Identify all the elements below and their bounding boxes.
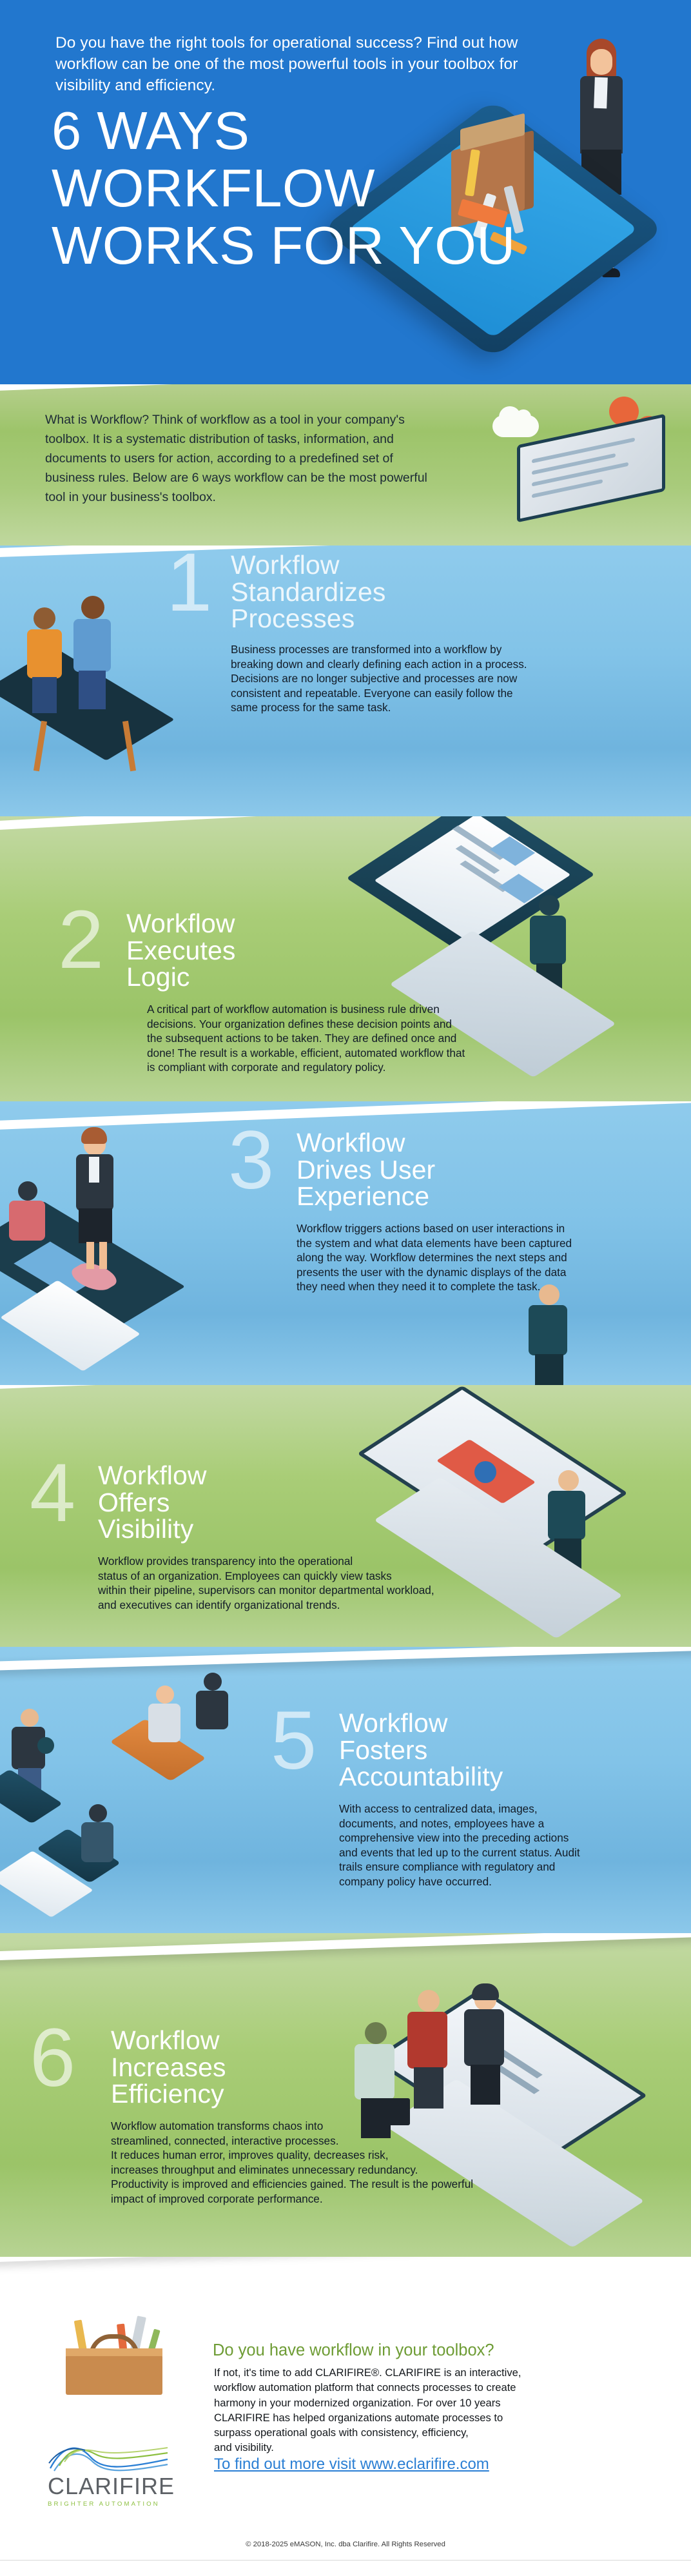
section-1-body-line-5: same process for the same task. — [231, 700, 527, 715]
section-4-body: Workflow provides transparency into the … — [98, 1554, 434, 1612]
section-1-heading-line-2: Standardizes — [231, 579, 386, 606]
section-4-heading-line-1: Workflow — [98, 1462, 207, 1490]
section-2-body-line-5: is compliant with corporate and regulato… — [147, 1060, 465, 1075]
clarifire-logo-mark — [48, 2440, 170, 2473]
cta-body-line-2: workflow automation platform that connec… — [214, 2380, 614, 2395]
section-3-heading-line-1: Workflow — [297, 1130, 435, 1157]
section-5-body-line-4: and events that led up to the current st… — [339, 1845, 580, 1860]
section-2-body-line-2: decisions. Your organization defines the… — [147, 1017, 465, 1032]
section-6-body-line-3: It reduces human error, improves quality… — [111, 2148, 473, 2163]
section-1-person-right — [70, 596, 119, 705]
section-3-heading: Workflow Drives User Experience — [297, 1130, 435, 1210]
cloud-icon — [492, 415, 539, 437]
section-2-body-line-1: A critical part of workflow automation i… — [147, 1002, 465, 1017]
section-3-businesswoman — [71, 1128, 122, 1257]
divider-section1-section2 — [0, 816, 691, 832]
copyright-notice: © 2018-2025 eMASON, Inc. dba Clarifire. … — [0, 2541, 691, 2548]
section-6-body: Workflow automation transforms chaos int… — [111, 2119, 473, 2207]
section-3-seated-person — [8, 1181, 53, 1272]
section-5-body-line-2: documents, and notes, employees have a — [339, 1816, 580, 1831]
cta-body-line-6: and visibility. — [214, 2440, 614, 2455]
section-5-body-line-6: company policy have occurred. — [339, 1874, 580, 1889]
section-6-band: 6 Workflow Increases Efficiency Workflow… — [0, 1933, 691, 2263]
section-1-body-line-3: Decisions are no longer subjective and p… — [231, 671, 527, 686]
section-6-body-line-1: Workflow automation transforms chaos int… — [111, 2119, 473, 2134]
page-title-line-3: WORKS FOR YOU — [52, 217, 683, 274]
page-title: 6 WAYS WORKFLOW WORKS FOR YOU — [52, 102, 683, 274]
footer-divider — [0, 2560, 691, 2561]
intro-band: What is Workflow? Think of workflow as a… — [0, 384, 691, 552]
section-5-body: With access to centralized data, images,… — [339, 1802, 580, 1889]
clarifire-logo-wordmark: CLARIFIRE — [48, 2473, 177, 2499]
section-1-body-line-4: consistent and repeatable. Everyone can … — [231, 686, 527, 701]
section-3-body-line-2: the system and what data elements have b… — [297, 1236, 572, 1251]
gear-icon — [614, 401, 634, 422]
infographic-page: Do you have the right tools for operatio… — [0, 0, 691, 2576]
section-3-number: 3 — [228, 1126, 274, 1195]
section-3-body-line-1: Workflow triggers actions based on user … — [297, 1221, 572, 1236]
cta-toolbox-illustration — [52, 2315, 180, 2399]
header-subheading: Do you have the right tools for operatio… — [55, 32, 532, 96]
section-5-heading-line-2: Fosters — [339, 1737, 503, 1764]
cta-body-line-3: harmony in your modernized organization.… — [214, 2395, 614, 2410]
section-5-body-line-5: trails ensure compliance with regulatory… — [339, 1860, 580, 1874]
section-6-body-line-4: increases throughput and eliminates unne… — [111, 2163, 473, 2178]
section-1-number: 1 — [166, 548, 212, 618]
section-6-body-line-6: impact of improved corporate performance… — [111, 2192, 473, 2207]
section-4-heading-line-3: Visibility — [98, 1516, 207, 1543]
section-4-gauge-icon — [474, 1461, 496, 1483]
section-2-heading-line-3: Logic — [126, 964, 235, 991]
section-6-body-line-2: streamlined, connected, interactive proc… — [111, 2134, 473, 2148]
cta-heading: Do you have workflow in your toolbox? — [213, 2341, 494, 2360]
section-6-heading: Workflow Increases Efficiency — [111, 2027, 226, 2108]
section-3-body-line-3: along the way. Workflow determines the n… — [297, 1250, 572, 1265]
section-2-body-line-4: done! The result is a workable, efficien… — [147, 1046, 465, 1061]
section-4-body-line-2: status of an organization. Employees can… — [98, 1569, 434, 1584]
section-5-band: 5 Workflow Fosters Accountability With a… — [0, 1647, 691, 1933]
divider-section4-section5 — [0, 1647, 691, 1671]
divider-section5-section6 — [0, 1933, 691, 1961]
section-3-body-line-5: they need when they need it to complete … — [297, 1279, 572, 1294]
page-title-line-2: WORKFLOW — [52, 159, 683, 217]
divider-section6-cta — [0, 2257, 691, 2263]
section-1-heading: Workflow Standardizes Processes — [231, 552, 386, 633]
section-4-band: 4 Workflow Offers Visibility Workflow pr… — [0, 1385, 691, 1647]
section-2-body-line-3: the subsequent actions to be taken. They… — [147, 1031, 465, 1046]
section-1-body: Business processes are transformed into … — [231, 642, 527, 715]
section-4-body-line-1: Workflow provides transparency into the … — [98, 1554, 434, 1569]
section-1-person-left — [23, 607, 68, 704]
section-3-body-line-4: presents the user with the dynamic displ… — [297, 1265, 572, 1280]
section-6-heading-line-3: Efficiency — [111, 2081, 226, 2108]
header-subheading-line-1: Do you have the right tools for operatio… — [55, 34, 422, 52]
cta-body-line-5: surpass operational goals with consisten… — [214, 2425, 614, 2440]
section-3-body: Workflow triggers actions based on user … — [297, 1221, 572, 1294]
section-5-person-right — [193, 1673, 235, 1750]
cta-body-line-4: CLARIFIRE has helped organizations autom… — [214, 2410, 614, 2425]
divider-section3-section4 — [0, 1385, 691, 1390]
page-title-line-1: 6 WAYS — [52, 102, 683, 159]
section-2-body: A critical part of workflow automation i… — [147, 1002, 465, 1075]
section-4-number: 4 — [30, 1459, 75, 1528]
cta-body-line-1: If not, it's time to add CLARIFIRE®. CLA… — [214, 2365, 614, 2380]
section-1-heading-line-1: Workflow — [231, 552, 386, 579]
section-4-heading: Workflow Offers Visibility — [98, 1462, 207, 1543]
section-6-heading-line-1: Workflow — [111, 2027, 226, 2054]
divider-section2-section3 — [0, 1101, 691, 1131]
toolbox-body — [66, 2355, 162, 2395]
section-2-band: 2 Workflow Executes Logic A critical par… — [0, 816, 691, 1101]
section-5-body-line-3: comprehensive view into the preceding ac… — [339, 1831, 580, 1845]
section-2-heading-line-2: Executes — [126, 938, 235, 965]
section-5-number: 5 — [271, 1706, 316, 1776]
section-5-heading-line-1: Workflow — [339, 1710, 503, 1737]
section-2-number: 2 — [58, 905, 104, 975]
section-4-heading-line-2: Offers — [98, 1490, 207, 1517]
section-3-heading-line-2: Drives User — [297, 1157, 435, 1184]
section-1-body-line-1: Business processes are transformed into … — [231, 642, 527, 657]
section-5-body-line-1: With access to centralized data, images, — [339, 1802, 580, 1816]
intro-line-1: What is Workflow? Think of workflow as a… — [45, 413, 342, 427]
clarifire-logo: CLARIFIRE BRIGHTER AUTOMATION — [48, 2440, 177, 2508]
section-5-person-left — [79, 1804, 121, 1888]
section-6-person-right — [462, 1986, 513, 2115]
section-6-person-mid — [405, 1990, 456, 2119]
section-3-heading-line-3: Experience — [297, 1183, 435, 1210]
section-5-person-mid — [146, 1686, 187, 1763]
section-3-person-right — [526, 1284, 575, 1381]
clarifire-logo-tagline: BRIGHTER AUTOMATION — [48, 2501, 177, 2508]
cta-footer-band: CLARIFIRE BRIGHTER AUTOMATION Do you hav… — [0, 2257, 691, 2576]
section-2-heading: Workflow Executes Logic — [126, 910, 235, 991]
cta-paragraph: If not, it's time to add CLARIFIRE®. CLA… — [214, 2365, 614, 2455]
cta-website-link[interactable]: To find out more visit www.eclarifire.co… — [214, 2455, 489, 2474]
gear-icon — [37, 1737, 54, 1754]
section-6-heading-line-2: Increases — [111, 2054, 226, 2081]
divider-header-intro — [0, 384, 691, 392]
section-6-body-line-5: Productivity is improved and efficiencie… — [111, 2177, 473, 2192]
section-4-body-line-3: within their pipeline, supervisors can m… — [98, 1583, 434, 1598]
header-band: Do you have the right tools for operatio… — [0, 0, 691, 393]
intro-laptop-illustration — [517, 414, 665, 523]
section-5-heading-line-3: Accountability — [339, 1764, 503, 1791]
section-1-heading-line-3: Processes — [231, 605, 386, 633]
intro-line-6: business's toolbox. — [110, 490, 216, 504]
section-6-number: 6 — [30, 2023, 75, 2093]
intro-paragraph: What is Workflow? Think of workflow as a… — [45, 410, 432, 507]
section-4-body-line-4: and executives can identify organization… — [98, 1598, 434, 1613]
section-3-band: 3 Workflow Drives User Experience Workfl… — [0, 1101, 691, 1385]
section-2-heading-line-1: Workflow — [126, 910, 235, 938]
section-1-body-line-2: breaking down and clearly defining each … — [231, 657, 527, 672]
section-1-band: 1 Workflow Standardizes Processes Busine… — [0, 546, 691, 816]
logo-swoosh-icon — [48, 2440, 170, 2473]
section-5-heading: Workflow Fosters Accountability — [339, 1710, 503, 1791]
